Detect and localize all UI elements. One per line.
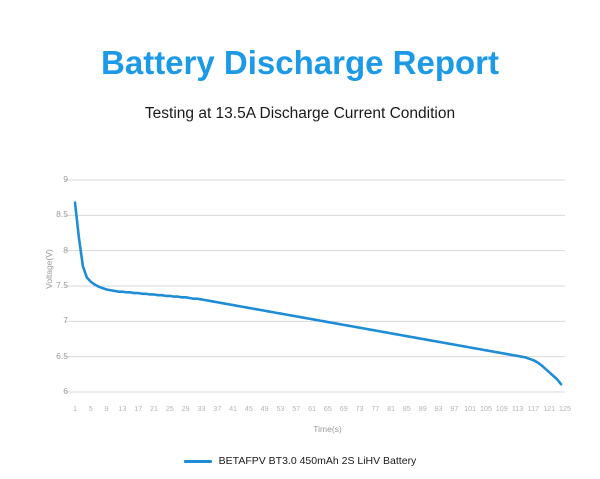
x-tick-label: 25 bbox=[166, 404, 174, 413]
x-tick-label: 45 bbox=[245, 404, 253, 413]
x-tick-label: 9 bbox=[105, 404, 109, 413]
x-tick-label: 37 bbox=[213, 404, 221, 413]
y-axis-title: Voltage(V) bbox=[44, 239, 58, 299]
x-tick-label: 29 bbox=[182, 404, 190, 413]
x-tick-label: 57 bbox=[292, 404, 300, 413]
y-tick-label: 9 bbox=[63, 174, 68, 184]
x-tick-label: 97 bbox=[450, 404, 458, 413]
x-axis-title: Time(s) bbox=[0, 424, 600, 434]
x-tick-label: 77 bbox=[371, 404, 379, 413]
battery-discharge-report: Battery Discharge Report Testing at 13.5… bbox=[0, 0, 600, 479]
discharge-chart: 98.587.576.56 15913172125293337414549535… bbox=[0, 0, 600, 479]
x-tick-label: 89 bbox=[419, 404, 427, 413]
x-tick-label: 61 bbox=[308, 404, 316, 413]
legend-label: BETAFPV BT3.0 450mAh 2S LiHV Battery bbox=[219, 455, 417, 467]
x-tick-label: 113 bbox=[512, 404, 523, 413]
chart-legend: BETAFPV BT3.0 450mAh 2S LiHV Battery bbox=[0, 455, 600, 467]
x-tick-label: 73 bbox=[356, 404, 364, 413]
x-tick-label: 93 bbox=[435, 404, 443, 413]
x-tick-label: 117 bbox=[528, 404, 539, 413]
x-tick-label: 121 bbox=[543, 404, 555, 413]
x-tick-label: 49 bbox=[261, 404, 269, 413]
x-tick-label: 125 bbox=[559, 404, 571, 413]
x-tick-label: 21 bbox=[150, 404, 158, 413]
x-tick-label: 85 bbox=[403, 404, 411, 413]
x-tick-label: 17 bbox=[134, 404, 142, 413]
y-tick-label: 8 bbox=[63, 245, 68, 255]
x-tick-label: 5 bbox=[89, 404, 93, 413]
x-tick-label: 53 bbox=[276, 404, 284, 413]
y-tick-label: 7 bbox=[63, 315, 68, 325]
x-tick-label: 41 bbox=[229, 404, 237, 413]
x-tick-label: 65 bbox=[324, 404, 332, 413]
x-tick-label: 81 bbox=[387, 404, 395, 413]
x-tick-label: 13 bbox=[118, 404, 126, 413]
y-tick-label: 8.5 bbox=[56, 209, 68, 219]
x-tick-label: 105 bbox=[480, 404, 492, 413]
x-tick-label: 1 bbox=[73, 404, 77, 413]
y-tick-label: 6 bbox=[63, 386, 68, 396]
x-axis-tick-labels: 1591317212529333741454953576165697377818… bbox=[0, 404, 600, 418]
x-tick-label: 109 bbox=[496, 404, 508, 413]
y-tick-label: 6.5 bbox=[56, 351, 68, 361]
legend-line-marker bbox=[184, 460, 212, 463]
x-tick-label: 69 bbox=[340, 404, 348, 413]
x-tick-label: 33 bbox=[197, 404, 205, 413]
x-tick-label: 101 bbox=[464, 404, 476, 413]
